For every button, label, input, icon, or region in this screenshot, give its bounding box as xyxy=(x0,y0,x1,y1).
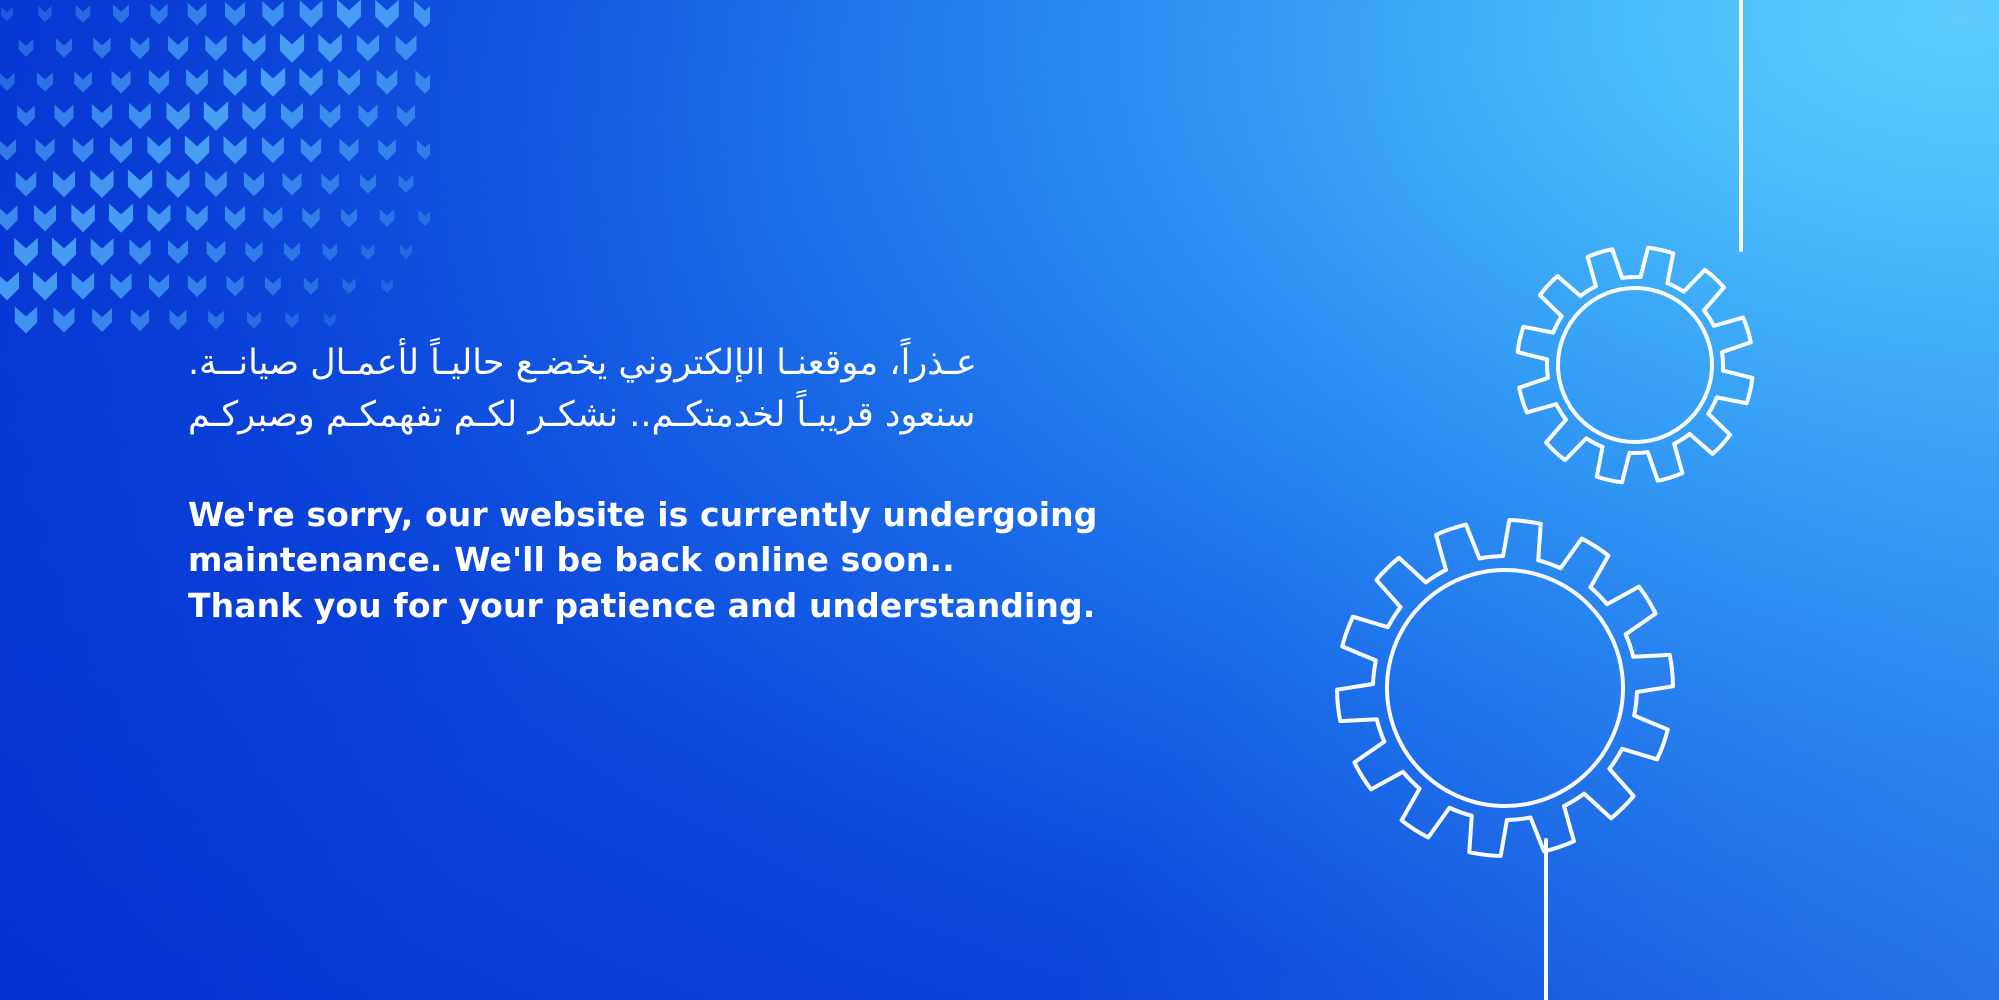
english-line-2: maintenance. We'll be back online soon.. xyxy=(188,537,1208,583)
message-block: عـذراً، موقعنـا الإلكتروني يخضـع حاليـاً… xyxy=(188,338,1208,628)
english-message: We're sorry, our website is currently un… xyxy=(188,492,1208,629)
arabic-message: عـذراً، موقعنـا الإلكتروني يخضـع حاليـاً… xyxy=(188,338,1208,442)
english-line-1: We're sorry, our website is currently un… xyxy=(188,492,1208,538)
arabic-line-1: عـذراً، موقعنـا الإلكتروني يخضـع حاليـاً… xyxy=(188,338,1208,390)
arabic-line-2: سنعود قريبـاً لخدمتكـم.. نشكـر لكـم تفهم… xyxy=(188,390,1208,442)
maintenance-page: عـذراً، موقعنـا الإلكتروني يخضـع حاليـاً… xyxy=(0,0,1999,1000)
english-line-3: Thank you for your patience and understa… xyxy=(188,583,1208,629)
